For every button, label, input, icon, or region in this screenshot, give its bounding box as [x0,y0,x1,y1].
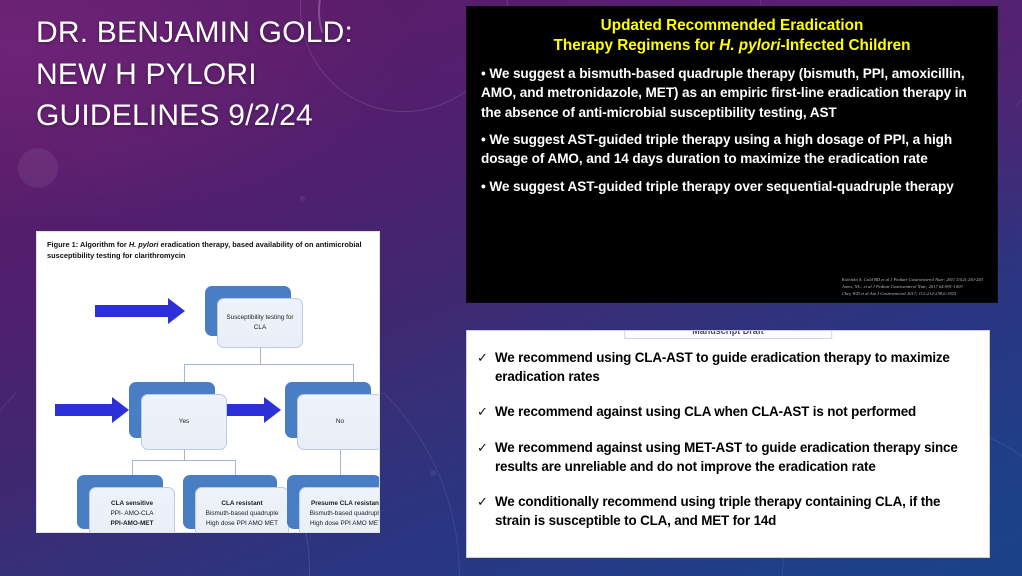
recommendation-item: ✓ We recommend against using CLA when CL… [477,402,975,421]
flow-node-line: CLA [254,323,266,333]
eradication-algorithm-figure: Figure 1: Algorithm for H. pylori eradic… [36,231,380,533]
figure-caption-pre: Figure 1: Algorithm for [47,240,129,249]
slide-title-line-3: GUIDELINES 9/2/24 [36,95,446,137]
slide-title: DR. BENJAMIN GOLD: NEW H PYLORI GUIDELIN… [36,12,446,137]
flow-node-line: Susceptibility testing for [226,313,293,323]
flow-node-presume-cla-resistant: Presume CLA resistant Bismuth-based quad… [287,475,380,529]
flow-node-line: Yes [179,417,189,427]
recommendations-list: ✓ We recommend using CLA-AST to guide er… [467,331,989,530]
flow-node-no: No [285,382,371,438]
citation-line: Jones, NL., et al J Pediatr Gastroentero… [842,283,983,290]
flow-node-line: PPI-AMO-MET [111,519,154,529]
recommendation-item: ✓ We recommend against using MET-AST to … [477,438,975,476]
check-icon: ✓ [477,492,495,511]
flow-node-line: CLA sensitive [111,499,153,509]
recommendations-panel: **Manuscript Draft** ✓ We recommend usin… [466,330,990,558]
flow-node-line: No [336,417,344,427]
eradication-slide-title-line-1: Updated Recommended Eradication [601,17,864,34]
eradication-slide-title-line-2-pre: Therapy Regimens for [554,37,720,54]
flow-node-line: Presume CLA resistant [311,499,380,509]
recommendation-text: We recommend against using MET-AST to gu… [495,438,975,476]
slide-title-line-2: NEW H PYLORI [36,54,446,96]
eradication-therapy-slide: Updated Recommended Eradication Therapy … [466,6,998,303]
connector-line [132,460,236,461]
recommendation-text: We conditionally recommend using triple … [495,492,975,530]
citation-line: Koletzko S, Gold BD et al J Pediatr Gast… [842,276,983,283]
manuscript-draft-label: **Manuscript Draft** [624,330,832,339]
decorative-dot-icon [430,470,436,476]
recommendation-text: We recommend against using CLA when CLA-… [495,402,916,421]
slide-title-line-1: DR. BENJAMIN GOLD: [36,12,446,54]
recommendation-item: ✓ We conditionally recommend using tripl… [477,492,975,530]
flow-node-susceptibility-testing: Susceptibility testing for CLA [205,286,291,336]
check-icon: ✓ [477,438,495,457]
flow-node-line: CLA resistant [221,499,262,509]
flow-arrow-icon [219,395,281,425]
recommendation-text: We recommend using CLA-AST to guide erad… [495,348,975,386]
citation-block: Koletzko S, Gold BD et al J Pediatr Gast… [842,276,983,297]
presentation-slide: DR. BENJAMIN GOLD: NEW H PYLORI GUIDELIN… [0,0,1022,576]
flow-node-cla-resistant: CLA resistant Bismuth-based quadruple Hi… [183,475,277,529]
flow-node-line: PPI- AMO-CLA [111,509,154,519]
flow-node-cla-sensitive: CLA sensitive PPI- AMO-CLA PPI-AMO-MET [77,475,163,529]
citation-line: Chey WD et al Am J Gastroenterol 2017; 1… [842,290,983,297]
flow-node-line: High dose PPI AMO MET [206,519,278,529]
flow-node-line: High dose PPI AMO MET [310,519,380,529]
flow-arrow-icon [55,395,129,425]
eradication-slide-title-line-2-post: -Infected Children [780,37,910,54]
eradication-slide-title: Updated Recommended Eradication Therapy … [481,16,983,55]
eradication-slide-title-italic: H. pylori [719,37,780,54]
eradication-bullet: • We suggest AST-guided triple therapy o… [481,177,983,196]
check-icon: ✓ [477,348,495,367]
recommendation-item: ✓ We recommend using CLA-AST to guide er… [477,348,975,386]
decorative-dot-icon [18,148,58,188]
figure-caption-italic: H. pylori [129,240,159,249]
flow-node-yes: Yes [129,382,215,438]
check-icon: ✓ [477,402,495,421]
flow-node-line: Bismuth-based quadruple [206,509,279,519]
connector-line [184,364,354,365]
eradication-bullet: • We suggest a bismuth-based quadruple t… [481,64,983,122]
flow-node-line: Bismuth-based quadruple [310,509,380,519]
flow-arrow-icon [95,296,185,326]
decorative-dot-icon [300,196,305,201]
figure-caption: Figure 1: Algorithm for H. pylori eradic… [47,240,377,261]
eradication-bullet: • We suggest AST-guided triple therapy u… [481,130,983,169]
connector-line [260,348,261,364]
